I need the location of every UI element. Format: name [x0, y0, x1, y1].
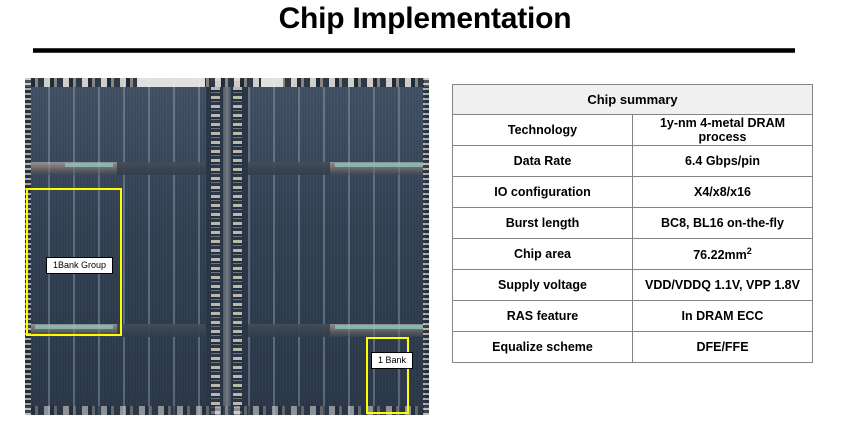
- stripe-segment: [248, 162, 330, 175]
- table-header-row: Chip summary: [453, 85, 813, 115]
- pad-block: [261, 78, 283, 87]
- pad-column-center: [223, 78, 231, 415]
- value-supply-voltage: VDD/VDDQ 1.1V, VPP 1.8V: [633, 270, 813, 301]
- pad-strip-right: [233, 78, 242, 415]
- value-data-rate: 6.4 Gbps/pin: [633, 146, 813, 177]
- table-row: RAS feature In DRAM ECC: [453, 301, 813, 332]
- param-supply-voltage: Supply voltage: [453, 270, 633, 301]
- param-io-configuration: IO configuration: [453, 177, 633, 208]
- stripe-segment: [117, 324, 209, 337]
- value-technology: 1y-nm 4-metal DRAM process: [633, 115, 813, 146]
- value-io-configuration: X4/x8/x16: [633, 177, 813, 208]
- table-row: Supply voltage VDD/VDDQ 1.1V, VPP 1.8V: [453, 270, 813, 301]
- bank-group-annotation-label: 1Bank Group: [46, 257, 113, 274]
- param-equalize-scheme: Equalize scheme: [453, 332, 633, 363]
- bank-highlight-box: [366, 337, 409, 414]
- value-burst-length: BC8, BL16 on-the-fly: [633, 208, 813, 239]
- chip-summary-header: Chip summary: [453, 85, 813, 115]
- top-edge-pad-row: [25, 78, 429, 87]
- param-technology: Technology: [453, 115, 633, 146]
- chip-area-number: 76.22mm: [693, 248, 747, 262]
- value-ras-feature: In DRAM ECC: [633, 301, 813, 332]
- right-edge-pad-column: [423, 78, 429, 415]
- stripe-metal-trace: [65, 163, 113, 167]
- peripheral-pad-column: [206, 78, 248, 415]
- table-row: Chip area 76.22mm2: [453, 239, 813, 270]
- stripe-metal-trace: [335, 163, 423, 167]
- chip-summary-table: Chip summary Technology 1y-nm 4-metal DR…: [452, 84, 813, 363]
- stripe-segment: [117, 162, 209, 175]
- table-row: Technology 1y-nm 4-metal DRAM process: [453, 115, 813, 146]
- value-chip-area: 76.22mm2: [633, 239, 813, 270]
- stripe-metal-trace: [335, 325, 423, 329]
- param-ras-feature: RAS feature: [453, 301, 633, 332]
- pad-block: [137, 78, 205, 87]
- table-row: Equalize scheme DFE/FFE: [453, 332, 813, 363]
- title-divider: [33, 48, 795, 53]
- pad-strip-left: [211, 78, 220, 415]
- chip-area-superscript: 2: [747, 246, 752, 256]
- param-data-rate: Data Rate: [453, 146, 633, 177]
- param-chip-area: Chip area: [453, 239, 633, 270]
- table-row: Burst length BC8, BL16 on-the-fly: [453, 208, 813, 239]
- bank-annotation-label: 1 Bank: [371, 352, 413, 369]
- stripe-segment: [248, 324, 330, 337]
- param-burst-length: Burst length: [453, 208, 633, 239]
- value-equalize-scheme: DFE/FFE: [633, 332, 813, 363]
- table-row: IO configuration X4/x8/x16: [453, 177, 813, 208]
- table-row: Data Rate 6.4 Gbps/pin: [453, 146, 813, 177]
- page-title: Chip Implementation: [0, 2, 850, 36]
